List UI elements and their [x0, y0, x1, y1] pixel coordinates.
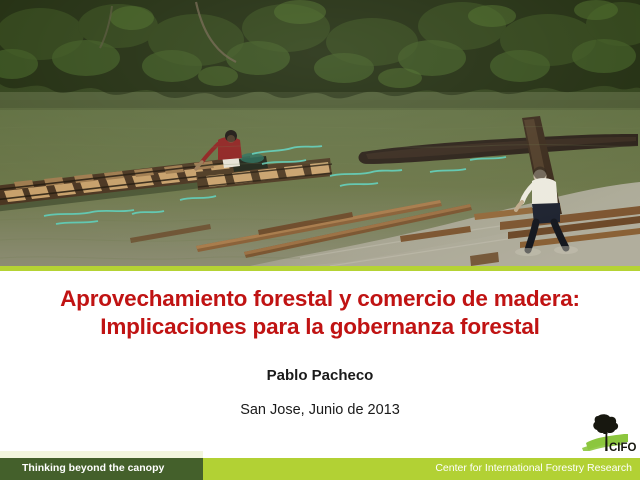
- footer-left-block: Thinking beyond the canopy: [0, 458, 203, 480]
- author-name: Pablo Pacheco: [0, 367, 640, 384]
- tagline: Thinking beyond the canopy: [22, 462, 164, 474]
- presentation-title-slide: Aprovechamiento forestal y comercio de m…: [0, 0, 640, 480]
- organization-name: Center for International Forestry Resear…: [435, 462, 632, 474]
- footer-bar: Thinking beyond the canopy Center for In…: [0, 458, 640, 480]
- footer-right-block: Center for International Forestry Resear…: [203, 458, 640, 480]
- title-photo: [0, 0, 640, 266]
- title-line-1: Aprovechamiento forestal y comercio de m…: [0, 285, 640, 313]
- tree-trunk: [605, 431, 607, 452]
- title-line-2: Implicaciones para la gobernanza foresta…: [0, 313, 640, 341]
- prefooter-left-pale: [0, 451, 203, 458]
- page-title: Aprovechamiento forestal y comercio de m…: [0, 285, 640, 341]
- river-timber-raft-illustration: [0, 0, 640, 266]
- prefooter-strip: [0, 451, 640, 458]
- tree-canopy: [593, 414, 618, 433]
- title-text-block: Aprovechamiento forestal y comercio de m…: [0, 271, 640, 451]
- place-and-date: San Jose, Junio de 2013: [0, 402, 640, 418]
